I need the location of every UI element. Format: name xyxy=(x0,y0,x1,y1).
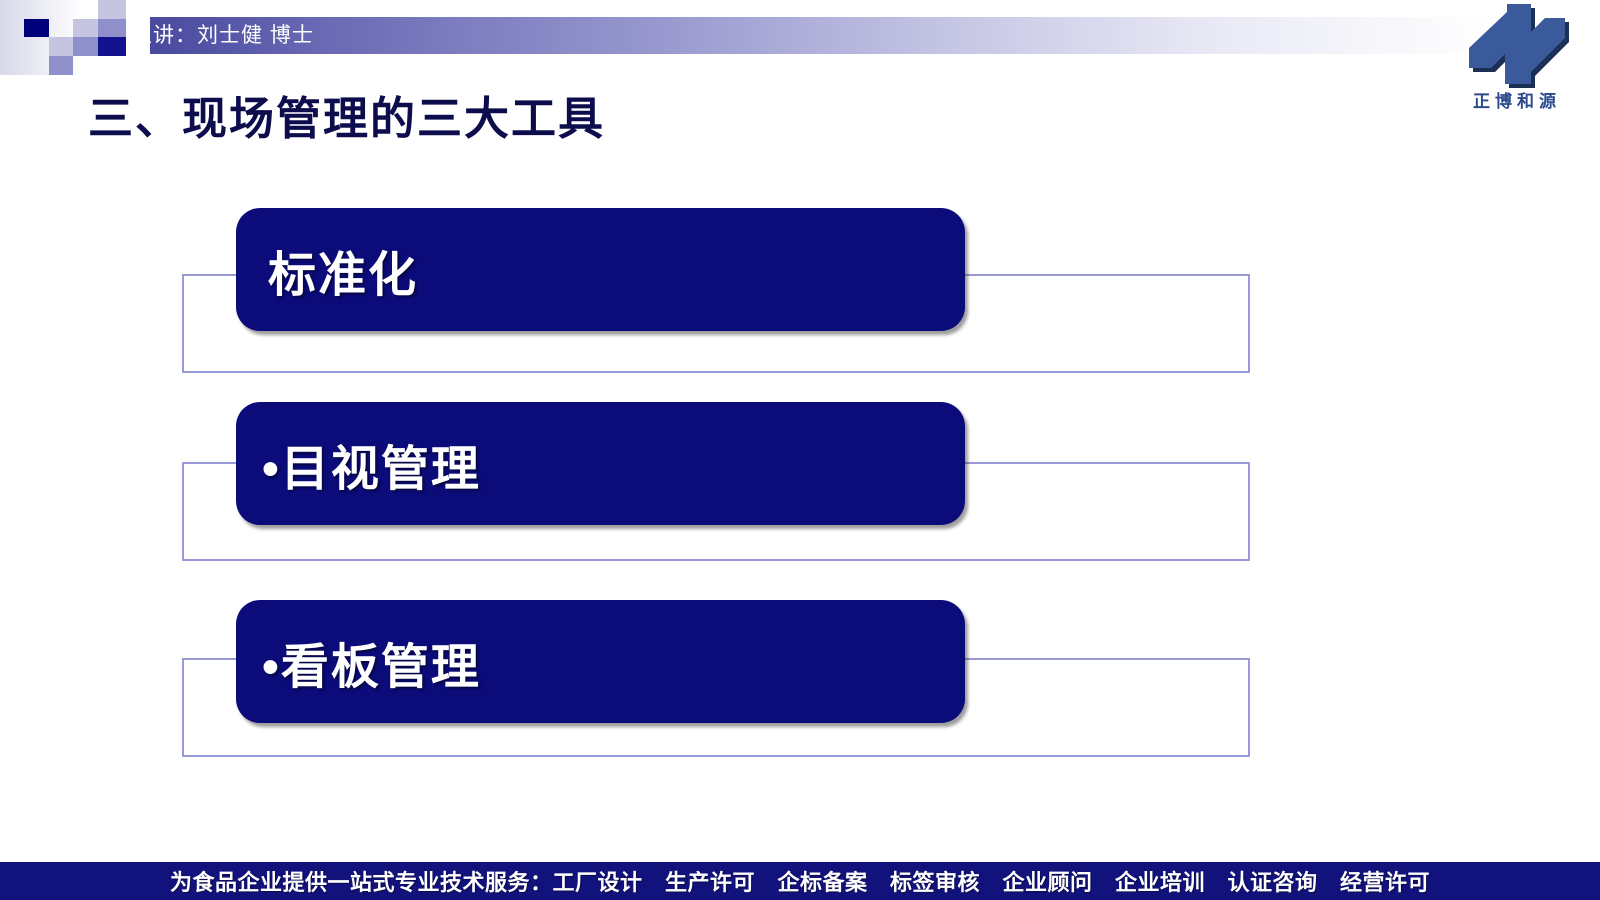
decor-square-7 xyxy=(98,37,126,56)
footer-services-text: 为食品企业提供一站式专业技术服务：工厂设计 生产许可 企标备案 标签审核 企业顾… xyxy=(170,865,1430,897)
decor-square-8 xyxy=(49,56,73,75)
decor-square-5 xyxy=(49,37,73,56)
tool-card-label-2: •目视管理 xyxy=(236,429,481,499)
page-title: 三、现场管理的三大工具 xyxy=(88,82,605,147)
tool-card-1[interactable]: 标准化 xyxy=(236,208,965,331)
logo-caption: 正博和源 xyxy=(1442,87,1592,112)
decor-square-2 xyxy=(24,19,49,37)
content-row-1: 标准化 xyxy=(0,200,1600,390)
content-row-3: •看板管理 xyxy=(0,590,1600,780)
tool-card-3[interactable]: •看板管理 xyxy=(236,600,965,723)
tool-card-2[interactable]: •目视管理 xyxy=(236,402,965,525)
bullet-icon-2: • xyxy=(262,443,281,496)
brand-logo: 正博和源 xyxy=(1442,2,1592,114)
tool-card-text-3: 看板管理 xyxy=(281,641,481,694)
decor-square-3 xyxy=(73,19,98,37)
decor-square-6 xyxy=(73,37,98,56)
decor-square-4 xyxy=(98,19,126,37)
tool-card-label-1: 标准化 xyxy=(236,235,418,305)
presenter-label: 主讲：刘士健 博士 xyxy=(131,19,314,52)
bullet-icon-3: • xyxy=(262,641,281,694)
decor-square-1 xyxy=(98,0,126,19)
tool-card-label-3: •看板管理 xyxy=(236,627,481,697)
tool-card-text-2: 目视管理 xyxy=(281,443,481,496)
zhengbo-heyuan-z-mark xyxy=(1461,2,1573,88)
footer-band: 为食品企业提供一站式专业技术服务：工厂设计 生产许可 企标备案 标签审核 企业顾… xyxy=(0,862,1600,900)
content-row-2: •目视管理 xyxy=(0,396,1600,581)
